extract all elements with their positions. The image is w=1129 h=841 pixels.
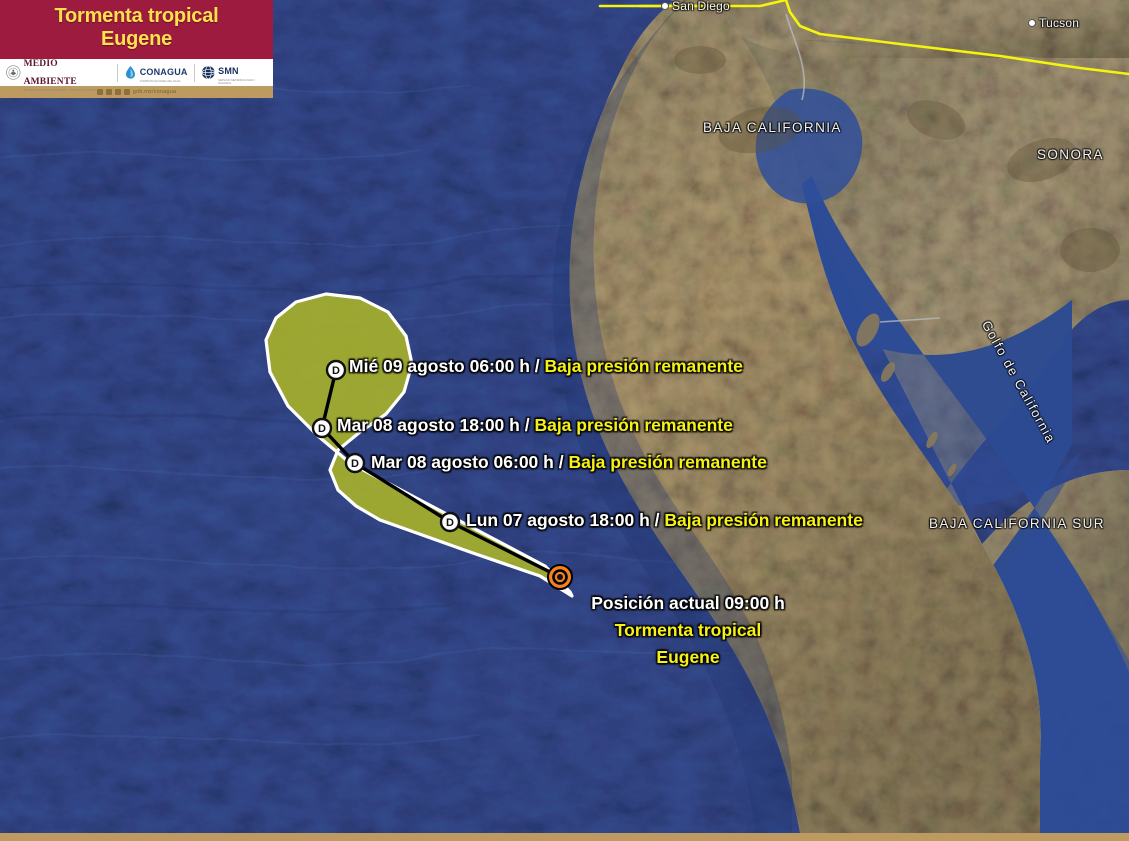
- logo-medio-ambiente: MEDIO AMBIENTE SECRETARIA DE MEDIO AMBIE…: [0, 62, 117, 84]
- forecast-marker-mar-08-1800[interactable]: D: [311, 417, 333, 439]
- forecast-severity-mar-08-1800: Baja presión remanente: [534, 415, 732, 435]
- storm-title-band: Tormenta tropical Eugene: [0, 0, 273, 59]
- mexico-eagle-seal-icon: [6, 65, 21, 80]
- forecast-label-mar-08-1800: Mar 08 agosto 18:00 h / Baja presión rem…: [337, 415, 733, 436]
- forecast-marker-lun-07-1800[interactable]: D: [439, 511, 461, 533]
- forecast-separator-lun-07-1800: /: [650, 510, 665, 530]
- forecast-label-mie-09-0600: Mié 09 agosto 06:00 h / Baja presión rem…: [349, 356, 743, 377]
- forecast-label-mar-08-0600: Mar 08 agosto 06:00 h / Baja presión rem…: [371, 452, 767, 473]
- youtube-icon[interactable]: [106, 89, 112, 95]
- bottom-accent-bar: [0, 833, 1129, 841]
- forecast-severity-mar-08-0600: Baja presión remanente: [568, 452, 766, 472]
- svg-text:D: D: [318, 423, 326, 435]
- smn-globe-icon: [201, 65, 216, 80]
- storm-title-line2: Eugene: [8, 28, 265, 51]
- logo-conagua: CONAGUA COMISION NACIONAL DEL AGUA: [118, 62, 194, 84]
- social-handle: gob.mx/conagua: [133, 89, 176, 95]
- forecast-severity-lun-07-1800: Baja presión remanente: [664, 510, 862, 530]
- logo-smn: SMN SERVICIO METEOROLOGICO NACIONAL: [195, 62, 273, 84]
- forecast-separator-mie-09-0600: /: [530, 356, 545, 376]
- logo-label-smn: SMN: [218, 66, 239, 76]
- storm-title-line1: Tormenta tropical: [8, 5, 265, 28]
- logo-subtitle-smn: SERVICIO METEOROLOGICO NACIONAL: [218, 79, 267, 85]
- logo-label-conagua: CONAGUA: [140, 67, 188, 77]
- forecast-time-mar-08-0600: Mar 08 agosto 06:00 h: [371, 452, 554, 472]
- instagram-icon[interactable]: [124, 89, 130, 95]
- forecast-time-mar-08-1800: Mar 08 agosto 18:00 h: [337, 415, 520, 435]
- forecast-separator-mar-08-0600: /: [554, 452, 569, 472]
- city-dot-tucson: [1028, 19, 1036, 27]
- current-position-time: Posición actual 09:00 h: [578, 590, 798, 617]
- logo-label-medio-ambiente: MEDIO AMBIENTE: [24, 59, 77, 87]
- storm-forecast-map: San Diego Tucson BAJA CALIFORNIA SONORA …: [0, 0, 1129, 841]
- svg-text:D: D: [351, 458, 359, 470]
- current-position-label-block: Posición actual 09:00 h Tormenta tropica…: [578, 590, 798, 671]
- current-position-category: Tormenta tropical: [578, 617, 798, 644]
- svg-text:D: D: [332, 365, 340, 377]
- forecast-severity-mie-09-0600: Baja presión remanente: [545, 356, 743, 376]
- forecast-separator-mar-08-1800: /: [520, 415, 535, 435]
- forecast-label-lun-07-1800: Lun 07 agosto 18:00 h / Baja presión rem…: [466, 510, 863, 531]
- city-dot-san-diego: [661, 2, 669, 10]
- forecast-time-mie-09-0600: Mié 09 agosto 06:00 h: [349, 356, 530, 376]
- logo-subtitle-conagua: COMISION NACIONAL DEL AGUA: [140, 80, 188, 83]
- current-position-marker[interactable]: [545, 562, 575, 592]
- twitter-icon[interactable]: [115, 89, 121, 95]
- current-position-name: Eugene: [578, 644, 798, 671]
- conagua-waterdrop-icon: [124, 65, 137, 80]
- forecast-marker-mar-08-0600[interactable]: D: [344, 452, 366, 474]
- agency-logo-band: MEDIO AMBIENTE SECRETARIA DE MEDIO AMBIE…: [0, 59, 273, 86]
- svg-text:D: D: [446, 517, 454, 529]
- header-panel: Tormenta tropical Eugene MEDIO AMBIENTE …: [0, 0, 273, 98]
- forecast-time-lun-07-1800: Lun 07 agosto 18:00 h: [466, 510, 650, 530]
- forecast-marker-mie-09-0600[interactable]: D: [325, 359, 347, 381]
- facebook-icon[interactable]: [97, 89, 103, 95]
